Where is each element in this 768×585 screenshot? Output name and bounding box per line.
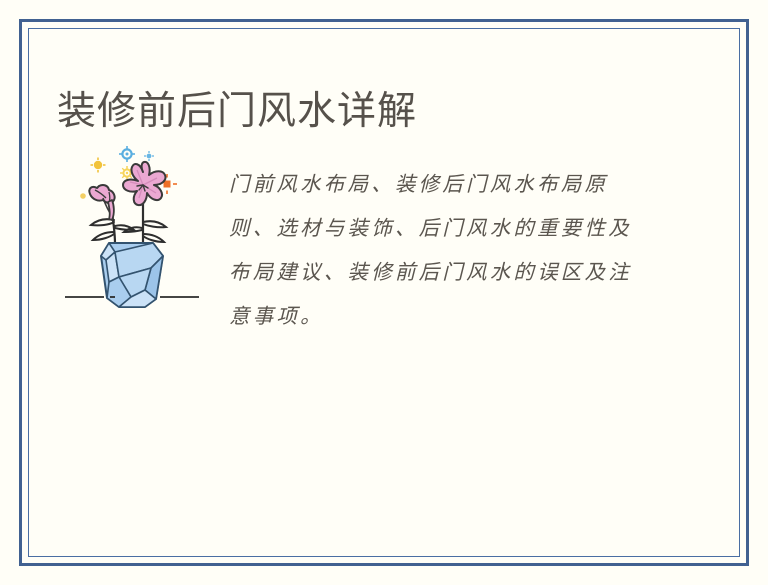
- sparkle-blue-large: [119, 146, 135, 162]
- flower-left-lily: [89, 185, 114, 220]
- content-row: 门前风水布局、装修后门风水布局原则、选材与装饰、后门风水的重要性及布局建议、装修…: [57, 140, 698, 338]
- flower-right-lily: [123, 162, 165, 205]
- flower-leaves: [91, 219, 166, 242]
- page-title: 装修前后门风水详解: [57, 88, 417, 137]
- sparkle-yellow-left: [91, 158, 106, 173]
- sparkle-blue-small: [144, 151, 154, 161]
- flower-vase-illustration: [57, 140, 207, 315]
- sparkle-yellow-lower-left: [80, 193, 86, 199]
- poster-page: 装修前后门风水详解: [0, 0, 768, 585]
- body-paragraph: 门前风水布局、装修后门风水布局原则、选材与装饰、后门风水的重要性及布局建议、装修…: [229, 162, 649, 338]
